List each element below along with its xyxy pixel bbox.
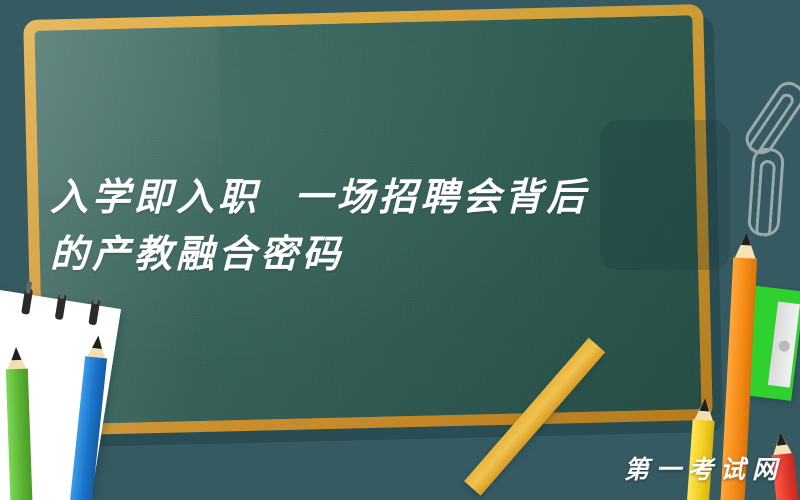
pencil-lead	[741, 232, 752, 246]
notepad-ring	[21, 288, 33, 315]
pencil-lead	[775, 432, 786, 446]
board-shadow	[600, 120, 730, 270]
paperclip-upper-icon	[740, 76, 800, 159]
pencil-lead	[699, 398, 710, 412]
paperclip-lower-icon	[747, 147, 785, 237]
cover-image-stage: 入学即入职 一场招聘会背后的产教融合密码	[0, 0, 800, 500]
page-title: 入学即入职 一场招聘会背后的产教融合密码	[50, 168, 610, 282]
pencil-lead	[92, 335, 103, 349]
site-watermark: 第一考试网	[624, 450, 784, 486]
pencil-lead	[11, 347, 21, 360]
